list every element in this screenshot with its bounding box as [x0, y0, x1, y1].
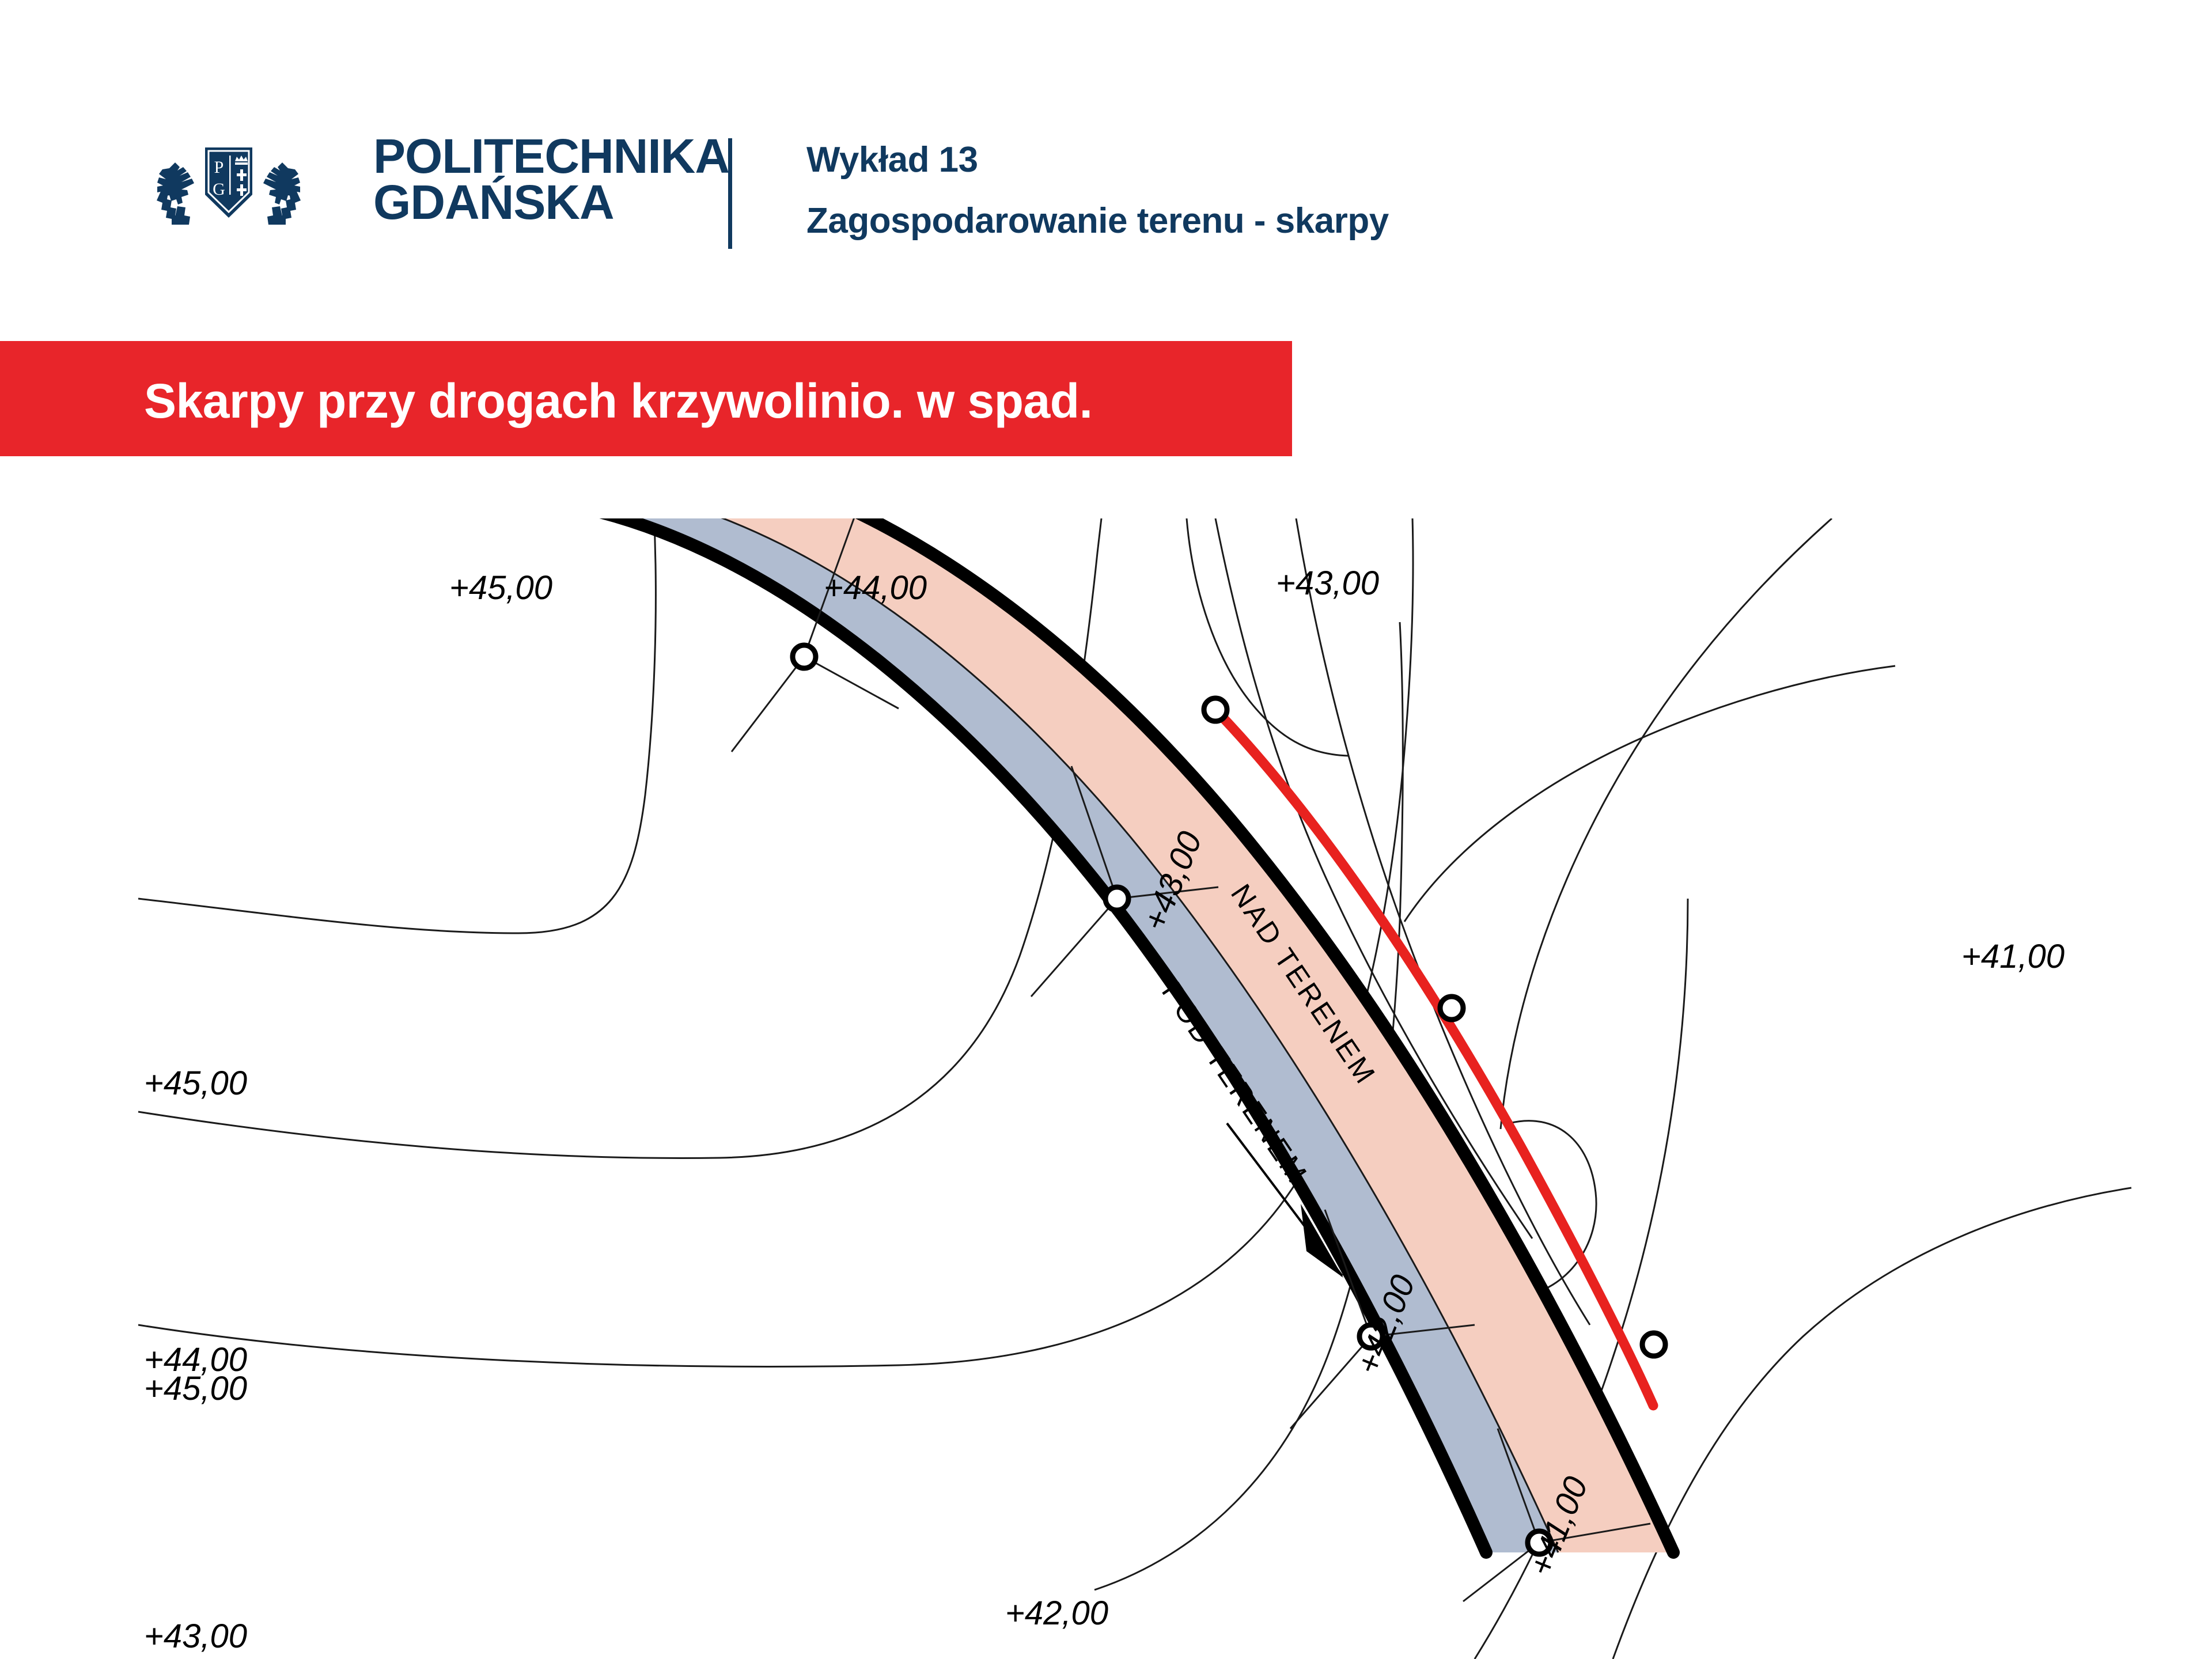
institution-line-2: GDAŃSKA [373, 175, 614, 229]
contour-aux-4 [1501, 518, 1832, 1129]
institution-name: POLITECHNIKA GDAŃSKA [373, 134, 729, 226]
lecture-title: Zagospodarowanie terenu - skarpy [806, 200, 1389, 241]
slide-root: P G POLITECHNIKA GDAŃSKA Wykład 13 Zagos… [0, 0, 2212, 1659]
intersection-node-circle [1105, 887, 1128, 910]
lecture-number: Wykład 13 [806, 139, 978, 180]
contour-label-44-left: +44,00 [144, 1341, 247, 1378]
svg-text:G: G [213, 180, 225, 199]
road-label-45: +45,00 [449, 569, 552, 607]
road-label-44: +44,00 [824, 569, 927, 607]
zone-above-ground-fill [651, 518, 1673, 1552]
pg-coat-of-arms-logo: P G [134, 126, 324, 235]
intersection-node-circle [1440, 997, 1463, 1020]
intersection-node-circle [793, 645, 816, 668]
slide-header: P G POLITECHNIKA GDAŃSKA Wykład 13 Zagos… [0, 0, 2212, 300]
contour-line-42-arc [1404, 666, 1895, 922]
terrain-contours [138, 518, 2131, 1659]
header-divider-icon [728, 138, 732, 249]
engineering-plan-drawing: +45,00 +45,00 +44,00 +43,00 +42,00 +41,0… [0, 518, 2212, 1659]
contour-label-45-left: +45,00 [144, 1065, 247, 1102]
contour-line-41 [1613, 1188, 2131, 1659]
intersection-node-circle [1642, 1333, 1665, 1356]
contour-line-45 [138, 518, 656, 933]
intersection-node-circle [1204, 698, 1227, 721]
road-label-43-top: +43,00 [1276, 565, 1379, 602]
contour-label-43-left: +43,00 [144, 1618, 247, 1655]
svg-text:P: P [214, 158, 224, 177]
contour-label-41-right: +41,00 [1961, 938, 2065, 975]
contour-label-42-bottom: +42,00 [1005, 1594, 1108, 1632]
banner-title-text: Skarpy przy drogach krzywolinio. w spad. [144, 373, 1092, 429]
